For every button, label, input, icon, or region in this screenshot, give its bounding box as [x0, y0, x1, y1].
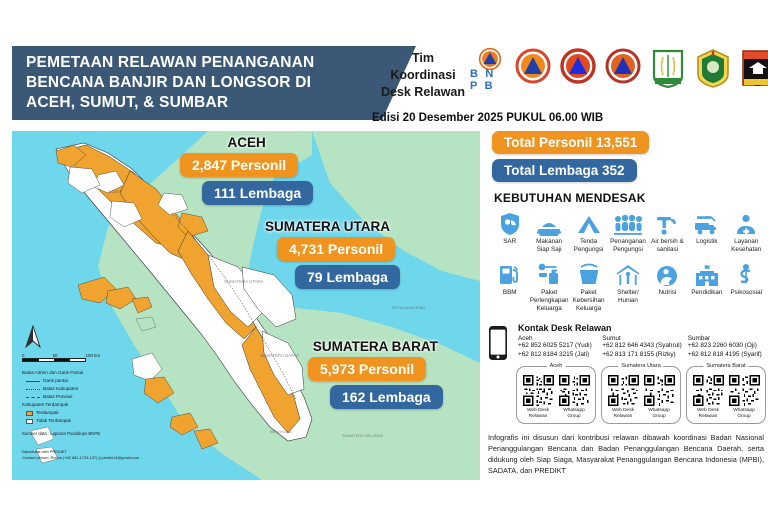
tidak-terdampak-swatch-icon [26, 419, 33, 424]
legend-admin-heading: Batas Admin dan Garis Pantai [22, 369, 83, 377]
sumbar-lembaga-row: 162 Lembaga [308, 385, 443, 409]
need-label: BBM [503, 289, 517, 297]
province-name-aceh: ACEH [180, 135, 313, 150]
tent-icon [577, 210, 601, 236]
svg-text:ACEH: ACEH [108, 189, 121, 194]
callout-aceh: ACEH 2,847 Personil 111 Lembaga [180, 135, 313, 205]
need-label: Nutrisi [658, 289, 676, 297]
need-label: MakananSiap Saji [536, 238, 562, 254]
need-air-bersih-sanitasi: Air bersih &sanitasi [648, 210, 687, 254]
total-lembaga-badge: Total Lembaga 352 [492, 159, 637, 182]
mobile-phone-icon [488, 323, 518, 361]
map-scale-bar: 0 50 100 km [22, 353, 100, 362]
qr-group-title: Sumatera Barat [703, 363, 748, 369]
qr-caption: WhatsappGroup [729, 408, 760, 420]
contact-person-label: Contact person: Rocha (+62 881-1729-137)… [22, 455, 139, 461]
need-label: LayananKesehatan [731, 238, 761, 254]
title-line-3: ACEH, SUMUT, & SUMBAR [26, 93, 314, 113]
svg-text:SUMATERA BARAT: SUMATERA BARAT [260, 353, 300, 358]
bpbd-aceh-logo [515, 48, 555, 92]
contact-number[interactable]: +62 852 6025 5217 (Yudi) [518, 342, 596, 351]
people-group-icon [613, 210, 643, 236]
compass-icon [24, 325, 42, 354]
provinsi-border-line-icon [26, 397, 40, 398]
qr-caption: Web DeskRelawan [608, 408, 639, 420]
contact-number[interactable]: +62 812 646 4343 (Syahrul) [602, 342, 681, 351]
legend-item-garis-pantai: Garis pantai [22, 377, 83, 385]
svg-text:SUMATERA SELATAN: SUMATERA SELATAN [342, 433, 383, 438]
needs-section-title: KEBUTUHAN MENDESAK [494, 191, 766, 205]
need-label: Shelter/Hunian [617, 289, 639, 305]
title-line-2: BENCANA BANJIR DAN LONGSOR DI [26, 73, 314, 93]
school-icon [694, 261, 720, 287]
contact-number[interactable]: +62 813 171 8155 (Rizky) [602, 351, 681, 360]
sumut-lembaga-pill: 79 Lembaga [295, 265, 400, 289]
bpbd-sumut-logo [560, 48, 600, 92]
legend-label: Terdampak [36, 409, 59, 417]
qr-web-desk-relawan-aceh[interactable]: Web DeskRelawan [523, 375, 554, 420]
legend-label: Batas Kabupaten [43, 385, 78, 393]
scale-bar-graphic [22, 358, 86, 362]
need-nutrisi: Nutrisi [648, 261, 687, 313]
team-line-2: Koordinasi [380, 67, 466, 84]
need-label: PaketPerlengkapanKeluarga [530, 289, 569, 313]
legend-item-terdampak: Terdampak [22, 409, 83, 417]
bnpb-logo: B N P B [470, 48, 510, 92]
need-paket-kebersihan-keluarga: PaketKebersihanKeluarga [569, 261, 608, 313]
qr-group-sumatera-utara: Sumatera Utara Web DeskRelawan WhatsappG… [601, 366, 681, 423]
contact-province: Sumbar [688, 335, 766, 342]
need-logistik: Logistik [687, 210, 726, 254]
aceh-lembaga-row: 111 Lembaga [180, 181, 313, 205]
sumatera-utara-logo [695, 48, 735, 92]
legend-kabupaten-heading: Kabupaten Terdampak [22, 401, 83, 409]
header: PEMETAAN RELAWAN PENANGANAN BENCANA BANJ… [0, 30, 768, 130]
qr-group-title: Sumatera Utara [618, 363, 663, 369]
kabupaten-border-line-icon [26, 389, 40, 390]
page-title: PEMETAAN RELAWAN PENANGANAN BENCANA BANJ… [26, 53, 314, 112]
map-panel[interactable]: ACEH SUMATERA UTARA SUMATERA BARAT RIAU … [12, 131, 480, 480]
need-label: PaketKebersihanKeluarga [573, 289, 605, 313]
sumatera-barat-logo [740, 48, 768, 92]
sumbar-lembaga-pill: 162 Lembaga [330, 385, 443, 409]
qr-group-sumatera-barat: Sumatera Barat Web DeskRelawan WhatsappG… [686, 366, 766, 423]
contact-col-aceh: Aceh +62 852 6025 5217 (Yudi) +62 812 81… [518, 335, 596, 359]
need-tenda-pengungsi: TendaPengungsi [569, 210, 608, 254]
contact-col-sumbar: Sumbar +62 823 2260 6030 (Oji) +62 812 8… [688, 335, 766, 359]
need-label: Psikososial [730, 289, 762, 297]
need-paket-perlengkapan-keluarga: PaketPerlengkapanKeluarga [529, 261, 568, 313]
shelter-house-icon [616, 261, 640, 287]
map-legend: Batas Admin dan Garis Pantai Garis panta… [22, 369, 83, 425]
qr-section: Aceh Web DeskRelawan WhatsappGroup Sumat… [516, 366, 766, 423]
need-bbm: BBM [490, 261, 529, 313]
need-pendidikan: Pendidikan [687, 261, 726, 313]
fuel-pump-icon [498, 261, 522, 287]
qr-web-desk-relawan-sumbar[interactable]: Web DeskRelawan [693, 375, 724, 420]
pemerintah-aceh-logo [650, 48, 690, 92]
qr-caption: WhatsappGroup [559, 408, 590, 420]
aceh-personil-pill: 2,847 Personil [180, 153, 298, 177]
sumbar-personil-pill: 5,973 Personil [308, 357, 426, 381]
callout-sumatera-barat: SUMATERA BARAT 5,973 Personil 162 Lembag… [308, 339, 443, 409]
need-layanan-kesehatan: LayananKesehatan [727, 210, 766, 254]
team-line-3: Desk Relawan [380, 84, 466, 101]
legend-label: Garis pantai [43, 377, 68, 385]
sumut-personil-row: 4,731 Personil [255, 237, 400, 261]
terdampak-swatch-icon [26, 411, 33, 416]
qr-whatsapp-group-sumbar[interactable]: WhatsappGroup [729, 375, 760, 420]
logistics-truck-icon [693, 210, 721, 236]
aceh-lembaga-pill: 111 Lembaga [202, 181, 313, 205]
need-label: Pendidikan [691, 289, 722, 297]
edition-label: Edisi 20 Desember 2025 PUKUL 06.00 WIB [372, 112, 603, 124]
sumut-lembaga-row: 79 Lembaga [255, 265, 400, 289]
legend-label: Tidak Terdampak [36, 417, 71, 425]
aceh-personil-row: 2,847 Personil [180, 153, 313, 177]
legend-label: Batas Provinsi [43, 393, 72, 401]
contact-province: Aceh [518, 335, 596, 342]
team-label: Tim Koordinasi Desk Relawan [380, 50, 466, 100]
psychosocial-icon [735, 261, 757, 287]
contact-number[interactable]: +62 812 8184 3215 (Jati) [518, 351, 596, 360]
contact-title: Kontak Desk Relawan [518, 323, 766, 333]
need-makanan-siap-saji: MakananSiap Saji [529, 210, 568, 254]
callout-sumatera-utara: SUMATERA UTARA 4,731 Personil 79 Lembaga [255, 219, 400, 289]
qr-whatsapp-group-aceh[interactable]: WhatsappGroup [559, 375, 590, 420]
province-name-sumbar: SUMATERA BARAT [308, 339, 443, 354]
need-label: SAR [503, 238, 516, 246]
need-label: PenangananPengungsi [610, 238, 646, 254]
team-line-1: Tim [380, 50, 466, 67]
qr-caption: Web DeskRelawan [693, 408, 724, 420]
total-personil-badge: Total Personil 13,551 [492, 131, 649, 154]
qr-caption: Web DeskRelawan [523, 408, 554, 420]
qr-group-aceh: Aceh Web DeskRelawan WhatsappGroup [516, 366, 596, 423]
contact-col-sumut: Sumut +62 812 646 4343 (Syahrul) +62 813… [602, 335, 681, 359]
nutrition-icon [655, 261, 679, 287]
contact-section: Kontak Desk Relawan Aceh +62 852 6025 52… [488, 323, 766, 361]
title-line-1: PEMETAAN RELAWAN PENANGANAN [26, 53, 314, 73]
svg-text:BENGKULU: BENGKULU [270, 429, 292, 434]
scale-tick-1: 50 [53, 353, 58, 358]
need-psikososial: Psikososial [727, 261, 766, 313]
coastline-line-icon [26, 381, 40, 382]
scale-tick-0: 0 [22, 353, 24, 358]
need-penanganan-pengungsi: PenangananPengungsi [608, 210, 647, 254]
need-label: TendaPengungsi [574, 238, 604, 254]
legend-item-tidak-terdampak: Tidak Terdampak [22, 417, 83, 425]
needs-row-1: SAR MakananSiap Saji TendaPengungsi Pena… [490, 210, 766, 254]
contact-province: Sumut [602, 335, 681, 342]
info-panel: Total Personil 13,551 Total Lembaga 352 … [488, 131, 766, 480]
qr-web-desk-relawan-sumut[interactable]: Web DeskRelawan [608, 375, 639, 420]
need-label: Air bersih &sanitasi [651, 238, 684, 254]
family-kit-icon [536, 261, 562, 287]
sumbar-personil-row: 5,973 Personil [308, 357, 443, 381]
health-service-icon [734, 210, 758, 236]
sumut-personil-pill: 4,731 Personil [277, 237, 395, 261]
need-sar: SAR [490, 210, 529, 254]
legend-item-batas-provinsi: Batas Provinsi [22, 393, 83, 401]
svg-text:KEPULAUAN RIAU: KEPULAUAN RIAU [392, 306, 425, 310]
qr-caption: WhatsappGroup [644, 408, 675, 420]
water-tap-icon [655, 210, 679, 236]
need-shelter-hunian: Shelter/Hunian [608, 261, 647, 313]
sar-shield-icon [499, 210, 521, 236]
bucket-hygiene-icon [577, 261, 601, 287]
footer-note: Infografis ini disusun dari kontribusi r… [488, 432, 766, 476]
qr-whatsapp-group-sumut[interactable]: WhatsappGroup [644, 375, 675, 420]
need-label: Logistik [696, 238, 717, 246]
scale-tick-2: 100 km [86, 353, 100, 358]
bnpb-logo-text: B N P B [470, 68, 510, 92]
contact-number[interactable]: +62 823 2260 6030 (Oji) [688, 342, 766, 351]
logo-strip: B N P B [470, 48, 768, 92]
legend-item-batas-kabupaten: Batas Kabupaten [22, 385, 83, 393]
bpbd-sumbar-logo [605, 48, 645, 92]
province-name-sumut: SUMATERA UTARA [255, 219, 400, 234]
contact-number[interactable]: +62 812 818 4195 (Syarif) [688, 351, 766, 360]
qr-group-title: Aceh [547, 363, 566, 369]
map-producer-block: Diproduksi oleh PREDIKT Contact person: … [22, 449, 139, 462]
food-bowl-icon [536, 210, 562, 236]
title-banner: PEMETAAN RELAWAN PENANGANAN BENCANA BANJ… [12, 46, 382, 120]
needs-row-2: BBM PaketPerlengkapanKeluarga PaketKeber… [490, 261, 766, 313]
map-source-label: Sumber data : Laporan Pusdalops BNPB [22, 431, 100, 436]
